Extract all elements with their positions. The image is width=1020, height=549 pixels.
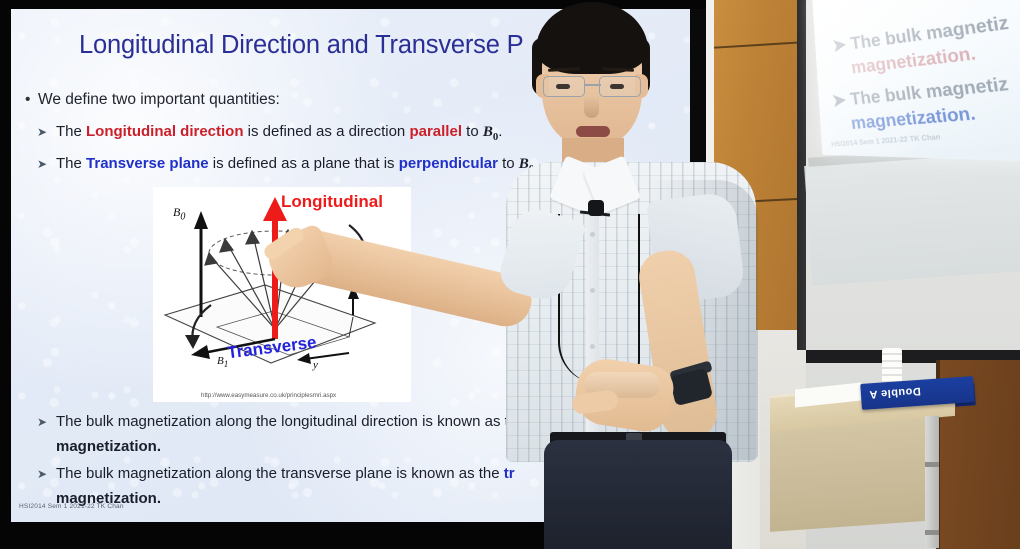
eyeglasses xyxy=(541,76,645,98)
presenter xyxy=(498,0,778,549)
symbol-b0: B0 xyxy=(483,124,498,140)
arrow-bullet-icon: ➤ xyxy=(37,157,56,171)
secondary-projection-screen: ➤ The bulk magnetiz magnetization. ➤ The… xyxy=(812,0,1020,163)
figure-axis-b0-label: B0 xyxy=(173,205,185,222)
trousers xyxy=(544,440,732,549)
figure-longitudinal-label: Longitudinal xyxy=(281,192,383,212)
lens-left xyxy=(543,76,585,97)
figure-source-credit: http://www.easymeasure.co.uk/principlesm… xyxy=(201,392,336,399)
desk-leg-band xyxy=(925,530,939,535)
secondary-screen-body xyxy=(804,150,1020,285)
glasses-bridge xyxy=(585,84,601,86)
term-perpendicular: perpendicular xyxy=(399,155,498,172)
bottom-bullet-2-text: The bulk magnetization along the transve… xyxy=(56,465,504,482)
mouth xyxy=(576,126,610,137)
desk-leg-band xyxy=(925,462,939,467)
slide-sub-bullet-1: ➤The Longitudinal direction is defined a… xyxy=(37,123,502,143)
bullet-dot-icon: • xyxy=(25,91,38,109)
slide-bottom-bullet-1-line1: ➤The bulk magnetization along the longit… xyxy=(37,413,509,430)
figure-axis-y-label: y xyxy=(313,359,318,371)
term-parallel: parallel xyxy=(409,123,462,140)
arrow-bullet-icon: ➤ xyxy=(37,125,56,139)
slide-bottom-bullet-2-line1: ➤The bulk magnetization along the transv… xyxy=(37,465,515,482)
lavalier-microphone-icon xyxy=(588,200,604,216)
lens-right xyxy=(599,76,641,97)
slide-footer: HSI2014 Sem 1 2021-22 TK Chan xyxy=(19,503,124,510)
hair xyxy=(536,2,648,74)
screen-glare xyxy=(812,0,1020,163)
letterbox-left xyxy=(0,0,11,549)
paper-box-label: Double A xyxy=(869,385,922,401)
lecture-recording-frame: Double A ➤ The bulk magnetiz magnetizati… xyxy=(0,0,1020,549)
bottom-bullet-1-text: The bulk magnetization along the longitu… xyxy=(56,413,509,430)
arrow-bullet-icon: ➤ xyxy=(37,467,56,481)
term-longitudinal-direction: Longitudinal direction xyxy=(86,123,244,140)
slide-sub-bullet-2: ➤The Transverse plane is defined as a pl… xyxy=(37,155,538,175)
slide-intro-text: We define two important quantities: xyxy=(38,91,280,108)
figure-axis-b1-label: B1 xyxy=(217,355,228,369)
slide-intro-bullet: •We define two important quantities: xyxy=(25,91,280,109)
arrow-bullet-icon: ➤ xyxy=(37,415,56,429)
nose xyxy=(584,96,599,118)
term-transverse-plane: Transverse plane xyxy=(86,155,209,172)
slide-bottom-bullet-1-line2: magnetization. xyxy=(56,438,161,455)
desk-leg xyxy=(925,416,939,548)
